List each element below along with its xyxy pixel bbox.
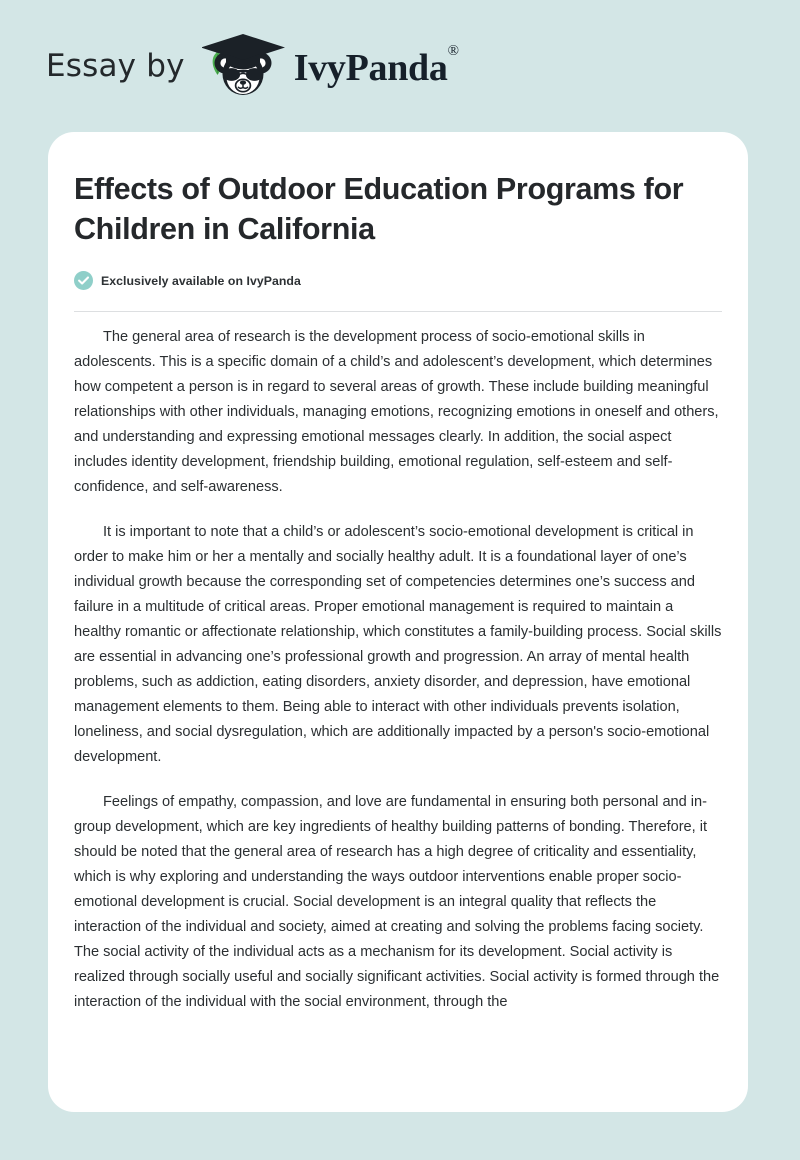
essay-body: The general area of research is the deve… <box>74 325 722 1015</box>
wordmark-text: IvyPanda <box>294 47 448 89</box>
status-badge: Exclusively available on IvyPanda <box>101 275 301 287</box>
registered-trademark-icon: ® <box>448 43 459 59</box>
paper-content: Effects of Outdoor Education Programs fo… <box>48 132 748 1015</box>
body-paragraph: It is important to note that a child’s o… <box>74 520 722 770</box>
body-paragraph: Feelings of empathy, compassion, and lov… <box>74 790 722 1015</box>
page-title: Effects of Outdoor Education Programs fo… <box>74 170 714 249</box>
ivypanda-wordmark: IvyPanda® <box>294 49 459 87</box>
divider <box>74 311 722 312</box>
essay-by-label: Essay by <box>46 51 185 82</box>
ivypanda-panda-logo-icon <box>202 30 288 102</box>
exclusive-availability-badge: Exclusively available on IvyPanda <box>74 271 722 290</box>
essay-paper-card: Effects of Outdoor Education Programs fo… <box>48 132 748 1112</box>
check-circle-icon <box>74 271 93 290</box>
brand-header: Essay by <box>0 0 800 132</box>
body-paragraph: The general area of research is the deve… <box>74 325 722 500</box>
